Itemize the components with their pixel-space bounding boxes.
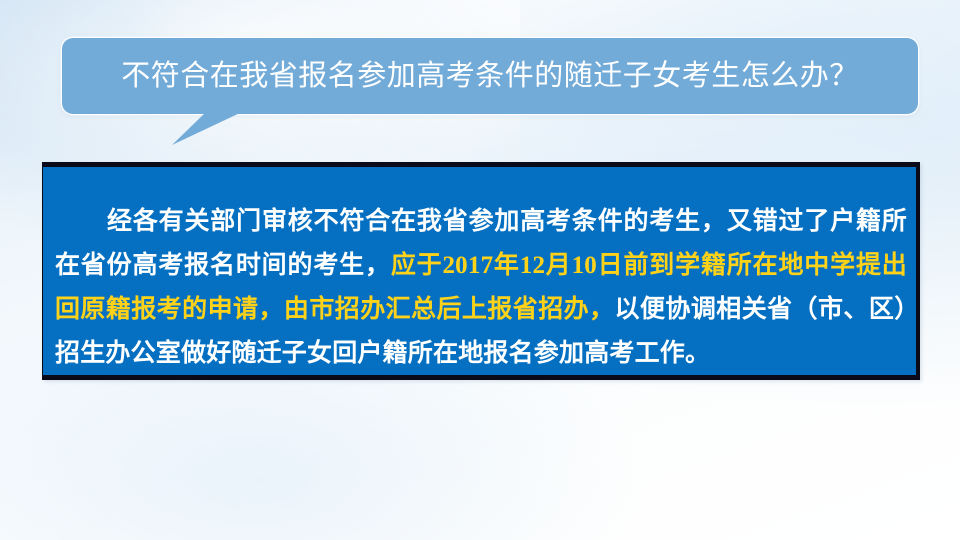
slide-canvas: 不符合在我省报名参加高考条件的随迁子女考生怎么办？ 经各有关部门审核不符合在我省…: [0, 0, 960, 540]
callout-tail-icon: [170, 112, 242, 146]
title-callout-text: 不符合在我省报名参加高考条件的随迁子女考生怎么办？: [121, 62, 859, 91]
content-paragraph: 经各有关部门审核不符合在我省参加高考条件的考生，又错过了户籍所在省份高考报名时间…: [55, 200, 907, 376]
title-callout-bubble: 不符合在我省报名参加高考条件的随迁子女考生怎么办？: [62, 38, 918, 114]
content-panel: 经各有关部门审核不符合在我省参加高考条件的考生，又错过了户籍所在省份高考报名时间…: [42, 162, 920, 380]
